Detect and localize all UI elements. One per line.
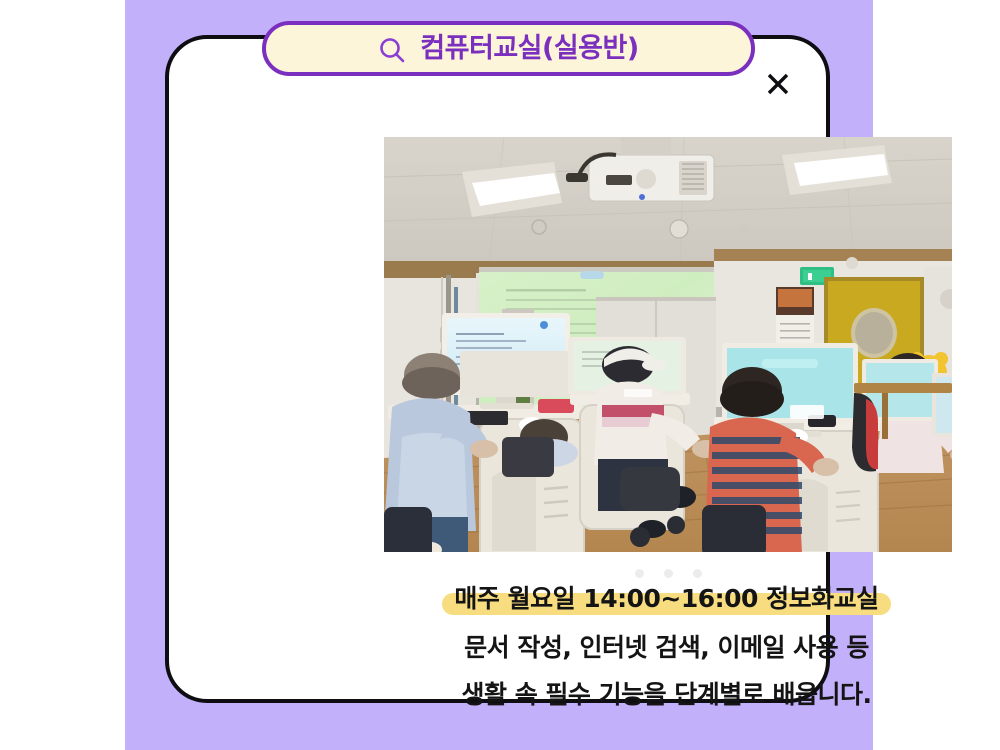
close-button[interactable] bbox=[764, 70, 792, 98]
caption-highlight: 매주 월요일 14:00~16:00 정보화교실 bbox=[442, 584, 890, 613]
screen: 매주 월요일 14:00~16:00 정보화교실 문서 작성, 인터넷 검색, … bbox=[0, 0, 1000, 750]
classroom-photo bbox=[384, 137, 952, 552]
caption-highlight-text: 매주 월요일 14:00~16:00 정보화교실 bbox=[454, 584, 878, 613]
carousel-dot-1[interactable] bbox=[635, 569, 644, 578]
caption-block: 매주 월요일 14:00~16:00 정보화교실 문서 작성, 인터넷 검색, … bbox=[354, 584, 979, 707]
caption-line-2: 문서 작성, 인터넷 검색, 이메일 사용 등 bbox=[354, 635, 979, 660]
title-pill: 컴퓨터교실(실용반) bbox=[262, 21, 755, 76]
caption-line-3: 생활 속 필수 기능을 단계별로 배웁니다. bbox=[354, 682, 979, 707]
classroom-photo-illustration bbox=[384, 137, 952, 552]
search-icon bbox=[378, 36, 406, 64]
caption-highlight-row: 매주 월요일 14:00~16:00 정보화교실 bbox=[354, 584, 979, 613]
carousel-indicator[interactable] bbox=[384, 569, 952, 578]
page-title: 컴퓨터교실(실용반) bbox=[420, 35, 638, 62]
close-icon bbox=[765, 71, 791, 97]
popup-card: 매주 월요일 14:00~16:00 정보화교실 문서 작성, 인터넷 검색, … bbox=[165, 35, 830, 703]
carousel-dot-3[interactable] bbox=[693, 569, 702, 578]
carousel-dot-2[interactable] bbox=[664, 569, 673, 578]
